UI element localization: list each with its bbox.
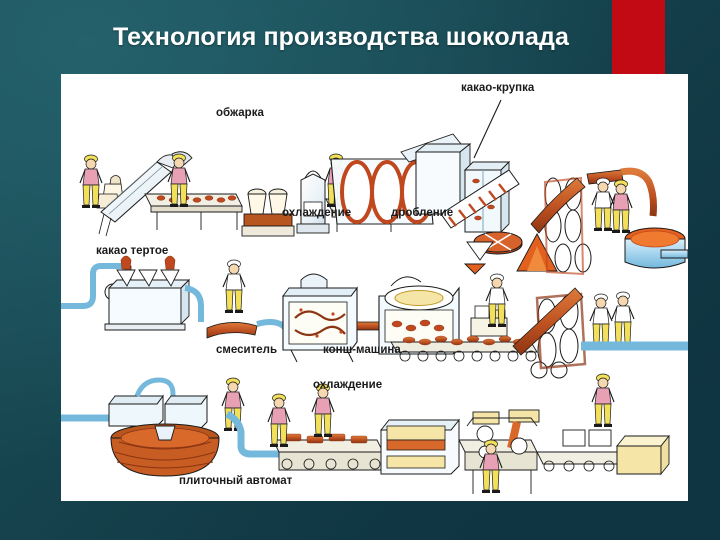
label-konsh-mashina: конш-машина [323,344,401,356]
label-plitochny-avtomat: плиточный автомат [179,475,293,487]
label-ohlazhdenie-top: охлаждение [282,207,351,219]
label-kakao-tertoe: какао тертое [96,245,168,257]
cooling-tunnel [381,420,459,474]
roaster-cabinet [297,171,329,233]
label-ohlazhdenie-bottom: охлаждение [313,379,382,391]
label-smesitel: смеситель [216,344,277,356]
diagram-panel: обжарка какао-крупка охлаждение дроблени… [61,74,688,501]
chocolate-production-diagram: обжарка какао-крупка охлаждение дроблени… [61,74,688,501]
label-droblenie: дробление [391,207,453,219]
label-kakao-krupka: какао-крупка [461,82,535,94]
page-title: Технология производства шоколада [60,18,622,56]
label-obzharka: обжарка [216,107,264,119]
slide-canvas: Технология производства шоколада [0,0,720,540]
